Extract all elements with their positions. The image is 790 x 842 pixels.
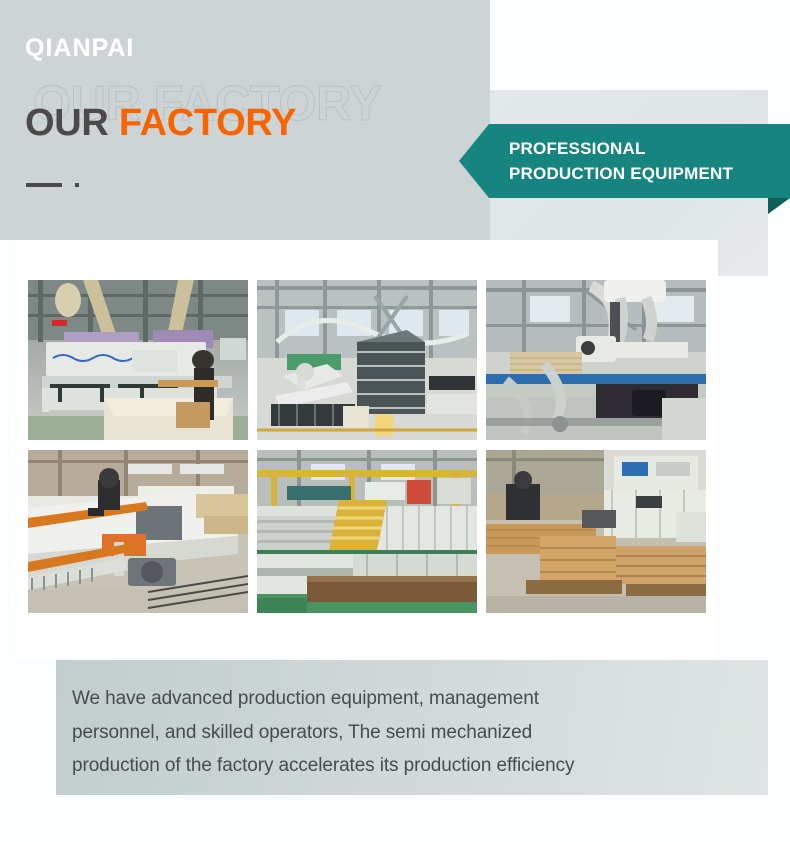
ribbon-fold-shadow [768, 198, 790, 214]
factory-showcase-page: QIANPAI OUR FACTORY OUR FACTORY PROFESSI… [0, 0, 790, 842]
underline-dash [26, 183, 62, 187]
ribbon-banner-text: PROFESSIONAL PRODUCTION EQUIPMENT [509, 136, 733, 186]
photo-item[interactable] [257, 280, 477, 440]
caption-panel: We have advanced production equipment, m… [56, 660, 768, 795]
photo-item[interactable] [28, 450, 248, 613]
section-title-word-our: OUR [25, 102, 109, 144]
underline-dot [75, 183, 79, 187]
photo-item[interactable] [257, 450, 477, 613]
gallery-card [12, 240, 718, 658]
photo-item[interactable] [486, 280, 706, 440]
photo-item[interactable] [28, 280, 248, 440]
caption-text: We have advanced production equipment, m… [72, 682, 752, 783]
brand-logo-text: QIANPAI [25, 36, 134, 61]
photo-item[interactable] [486, 450, 706, 613]
photo-grid [28, 280, 706, 613]
title-underline-decoration [26, 183, 79, 187]
section-title-main: OUR FACTORY [25, 104, 296, 142]
section-title-word-factory: FACTORY [119, 102, 296, 144]
ribbon-banner: PROFESSIONAL PRODUCTION EQUIPMENT [459, 124, 790, 198]
